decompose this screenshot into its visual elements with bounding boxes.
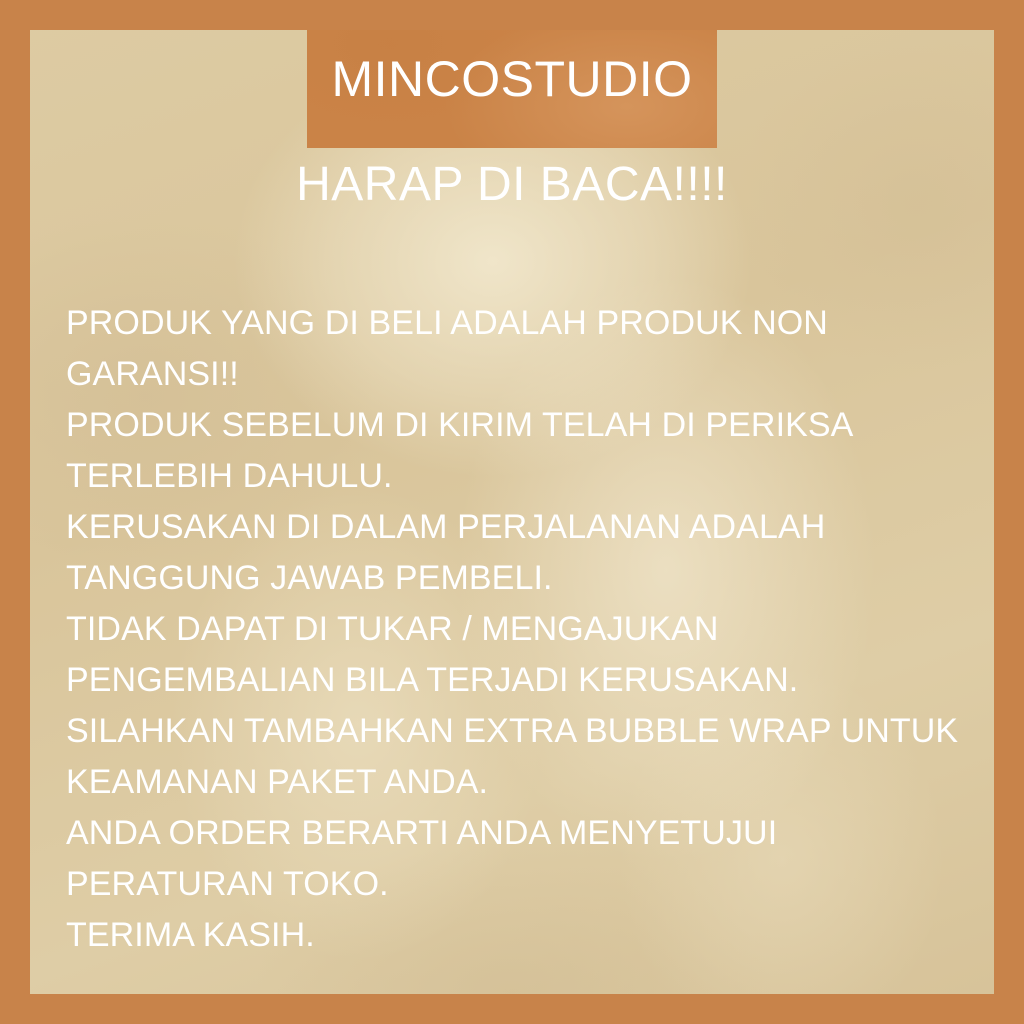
policy-line: PRODUK SEBELUM DI KIRIM TELAH DI PERIKSA… xyxy=(66,400,962,502)
brand-banner: MINCOSTUDIO xyxy=(307,30,717,148)
page-title: HARAP DI BACA!!!! xyxy=(30,161,994,209)
policy-line: PRODUK YANG DI BELI ADALAH PRODUK NON GA… xyxy=(66,298,962,400)
policy-line: TIDAK DAPAT DI TUKAR / MENGAJUKAN PENGEM… xyxy=(66,604,962,706)
brand-title: MINCOSTUDIO xyxy=(331,54,692,104)
policy-text-block: PRODUK YANG DI BELI ADALAH PRODUK NON GA… xyxy=(66,298,962,961)
poster-canvas: MINCOSTUDIO HARAP DI BACA!!!! PRODUK YAN… xyxy=(0,0,1024,1024)
poster-panel: MINCOSTUDIO HARAP DI BACA!!!! PRODUK YAN… xyxy=(30,30,994,994)
policy-line: SILAHKAN TAMBAHKAN EXTRA BUBBLE WRAP UNT… xyxy=(66,706,962,808)
policy-line: TERIMA KASIH. xyxy=(66,910,962,961)
policy-line: KERUSAKAN DI DALAM PERJALANAN ADALAH TAN… xyxy=(66,502,962,604)
policy-line: ANDA ORDER BERARTI ANDA MENYETUJUI PERAT… xyxy=(66,808,962,910)
